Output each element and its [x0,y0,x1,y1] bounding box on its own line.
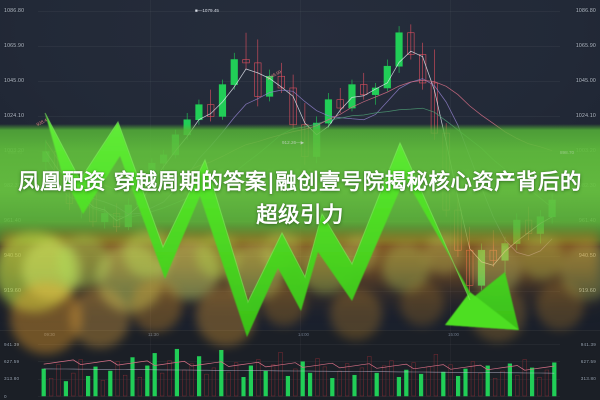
page-title: 凤凰配资 穿越周期的答案|融创壹号院揭秘核心资产背后的超级引力 [18,166,582,232]
promo-banner: 1086.801065.901045.001024.101003.20982.3… [0,0,600,400]
